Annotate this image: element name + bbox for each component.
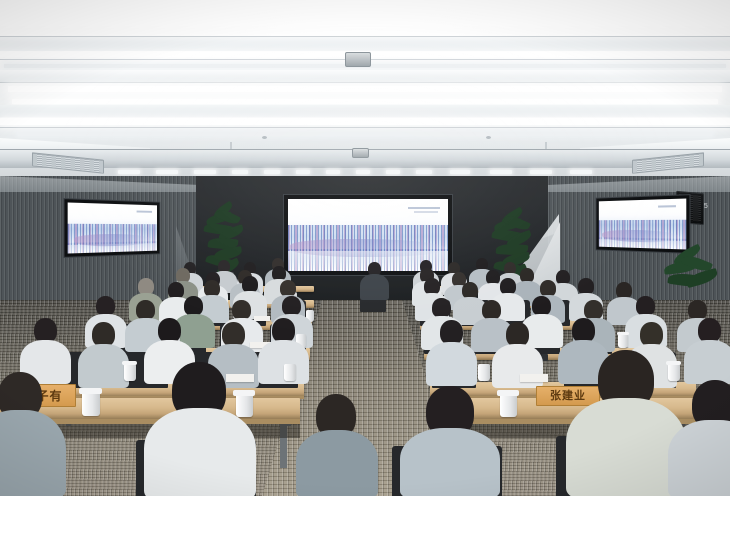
- smoke-detector: [486, 136, 491, 139]
- screen-logo: [408, 207, 440, 209]
- smoke-detector: [262, 136, 267, 139]
- screen-logo-sub: [414, 211, 438, 213]
- torso: [296, 430, 378, 496]
- ceiling-plane: [0, 105, 730, 117]
- ceiling-light-strip: [18, 132, 712, 136]
- bottom-matte: [0, 496, 730, 548]
- ceiling-projector-mount: [352, 148, 369, 158]
- ceiling-seam: [0, 127, 730, 128]
- torso: [0, 410, 66, 496]
- tea-cup: [500, 394, 517, 417]
- tea-cup: [236, 394, 253, 417]
- nameplate-right: 张建业: [536, 386, 600, 406]
- screen-foreground: [599, 237, 686, 249]
- ceiling-light-strip: [0, 118, 730, 125]
- ceiling-downlight: [530, 170, 552, 174]
- tea-cup: [82, 392, 100, 416]
- ceiling-downlight: [326, 170, 340, 174]
- side-display-left-screen: [68, 202, 157, 253]
- ceiling-downlight: [570, 170, 592, 174]
- photo-canvas: 2.5: [0, 0, 730, 548]
- torso: [144, 408, 256, 496]
- screen-foreground: [68, 241, 157, 253]
- ceiling-plane: [0, 70, 730, 82]
- ceiling-downlight: [118, 170, 140, 174]
- screen-logo: [658, 205, 676, 207]
- ceiling-downlight: [156, 170, 178, 174]
- ceiling-plane-top: [0, 0, 730, 26]
- side-display-right[interactable]: [596, 194, 691, 254]
- torso: [360, 274, 389, 300]
- ceiling-downlight: [356, 170, 370, 174]
- conference-room-photograph: 2.5: [0, 0, 730, 496]
- tea-cup: [478, 364, 490, 381]
- ceiling-downlight: [232, 170, 248, 174]
- ceiling-downlight: [386, 170, 400, 174]
- torso: [668, 420, 730, 496]
- ceiling-plane: [0, 37, 730, 51]
- ceiling-seam: [0, 82, 730, 83]
- ceiling-projector: [345, 52, 371, 67]
- ceiling-downlight: [264, 170, 280, 174]
- ceiling: [0, 0, 730, 196]
- ceiling-light-strip: [0, 28, 730, 34]
- ceiling-downlight: [416, 170, 432, 174]
- ceiling-downlight: [490, 170, 512, 174]
- tea-cup: [284, 364, 296, 381]
- tea-cup: [618, 334, 628, 348]
- tea-cup: [668, 364, 680, 381]
- side-display-right-screen: [599, 199, 686, 250]
- ceiling-downlight: [194, 170, 216, 174]
- ceiling-light-strip: [12, 99, 718, 104]
- ceiling-downlight: [450, 170, 470, 174]
- ceiling-light-strip: [8, 86, 722, 92]
- ceiling-downlight: [296, 170, 310, 174]
- screen-logo: [137, 211, 152, 213]
- side-display-left[interactable]: [63, 198, 160, 258]
- tea-cup: [124, 364, 136, 381]
- torso: [400, 428, 500, 496]
